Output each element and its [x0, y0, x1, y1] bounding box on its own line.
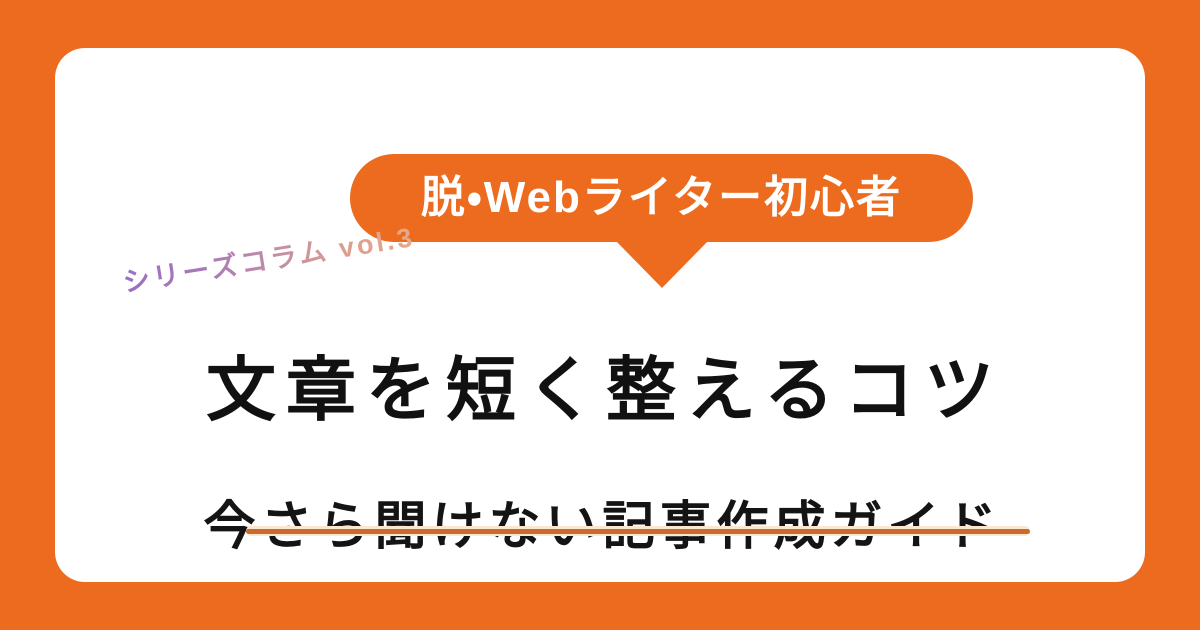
series-kicker-label: シリーズコラム vol.3 [120, 215, 417, 300]
underline-core [246, 529, 1030, 534]
badge-pill: 脱・Webライター初心者 [350, 154, 973, 242]
category-badge: 脱・Webライター初心者 [350, 154, 973, 242]
badge-label: 脱・Webライター初心者 [421, 176, 902, 220]
badge-tail-triangle [615, 240, 709, 288]
subtitle-underline [246, 526, 1030, 536]
eyecatch-canvas: 脱・Webライター初心者 シリーズコラム vol.3 文章を短く整えるコツ 今さ… [0, 0, 1200, 630]
page-title: 文章を短く整えるコツ [55, 351, 1145, 429]
content-card: 脱・Webライター初心者 シリーズコラム vol.3 文章を短く整えるコツ 今さ… [55, 48, 1145, 582]
